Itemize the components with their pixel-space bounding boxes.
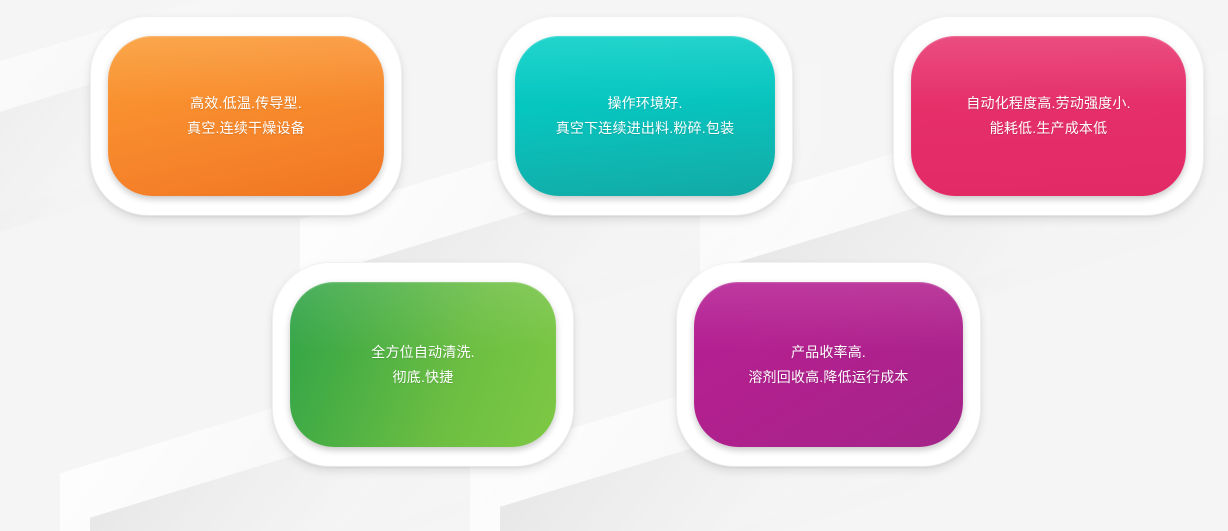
card-label: 产品收率高. 溶剂回收高.降低运行成本 [736, 340, 920, 390]
card-panel: 产品收率高. 溶剂回收高.降低运行成本 [694, 282, 963, 447]
slide-canvas: 高效.低温.传导型. 真空.连续干燥设备 操作环境好. 真空下连续进出料.粉碎.… [0, 0, 1228, 531]
card-panel: 操作环境好. 真空下连续进出料.粉碎.包装 [515, 36, 775, 196]
feature-card-high-efficiency[interactable]: 高效.低温.传导型. 真空.连续干燥设备 [90, 16, 402, 216]
card-panel: 全方位自动清洗. 彻底.快捷 [290, 282, 556, 447]
card-panel: 自动化程度高.劳动强度小. 能耗低.生产成本低 [911, 36, 1186, 196]
feature-card-operating-environment[interactable]: 操作环境好. 真空下连续进出料.粉碎.包装 [497, 16, 793, 216]
feature-card-product-yield[interactable]: 产品收率高. 溶剂回收高.降低运行成本 [676, 262, 981, 467]
card-label: 高效.低温.传导型. 真空.连续干燥设备 [175, 91, 317, 141]
card-label: 全方位自动清洗. 彻底.快捷 [359, 340, 487, 390]
feature-card-auto-cleaning[interactable]: 全方位自动清洗. 彻底.快捷 [272, 262, 574, 467]
card-label: 自动化程度高.劳动强度小. 能耗低.生产成本低 [954, 91, 1142, 141]
card-panel: 高效.低温.传导型. 真空.连续干燥设备 [108, 36, 384, 196]
feature-card-automation[interactable]: 自动化程度高.劳动强度小. 能耗低.生产成本低 [893, 16, 1204, 216]
card-label: 操作环境好. 真空下连续进出料.粉碎.包装 [544, 91, 747, 141]
